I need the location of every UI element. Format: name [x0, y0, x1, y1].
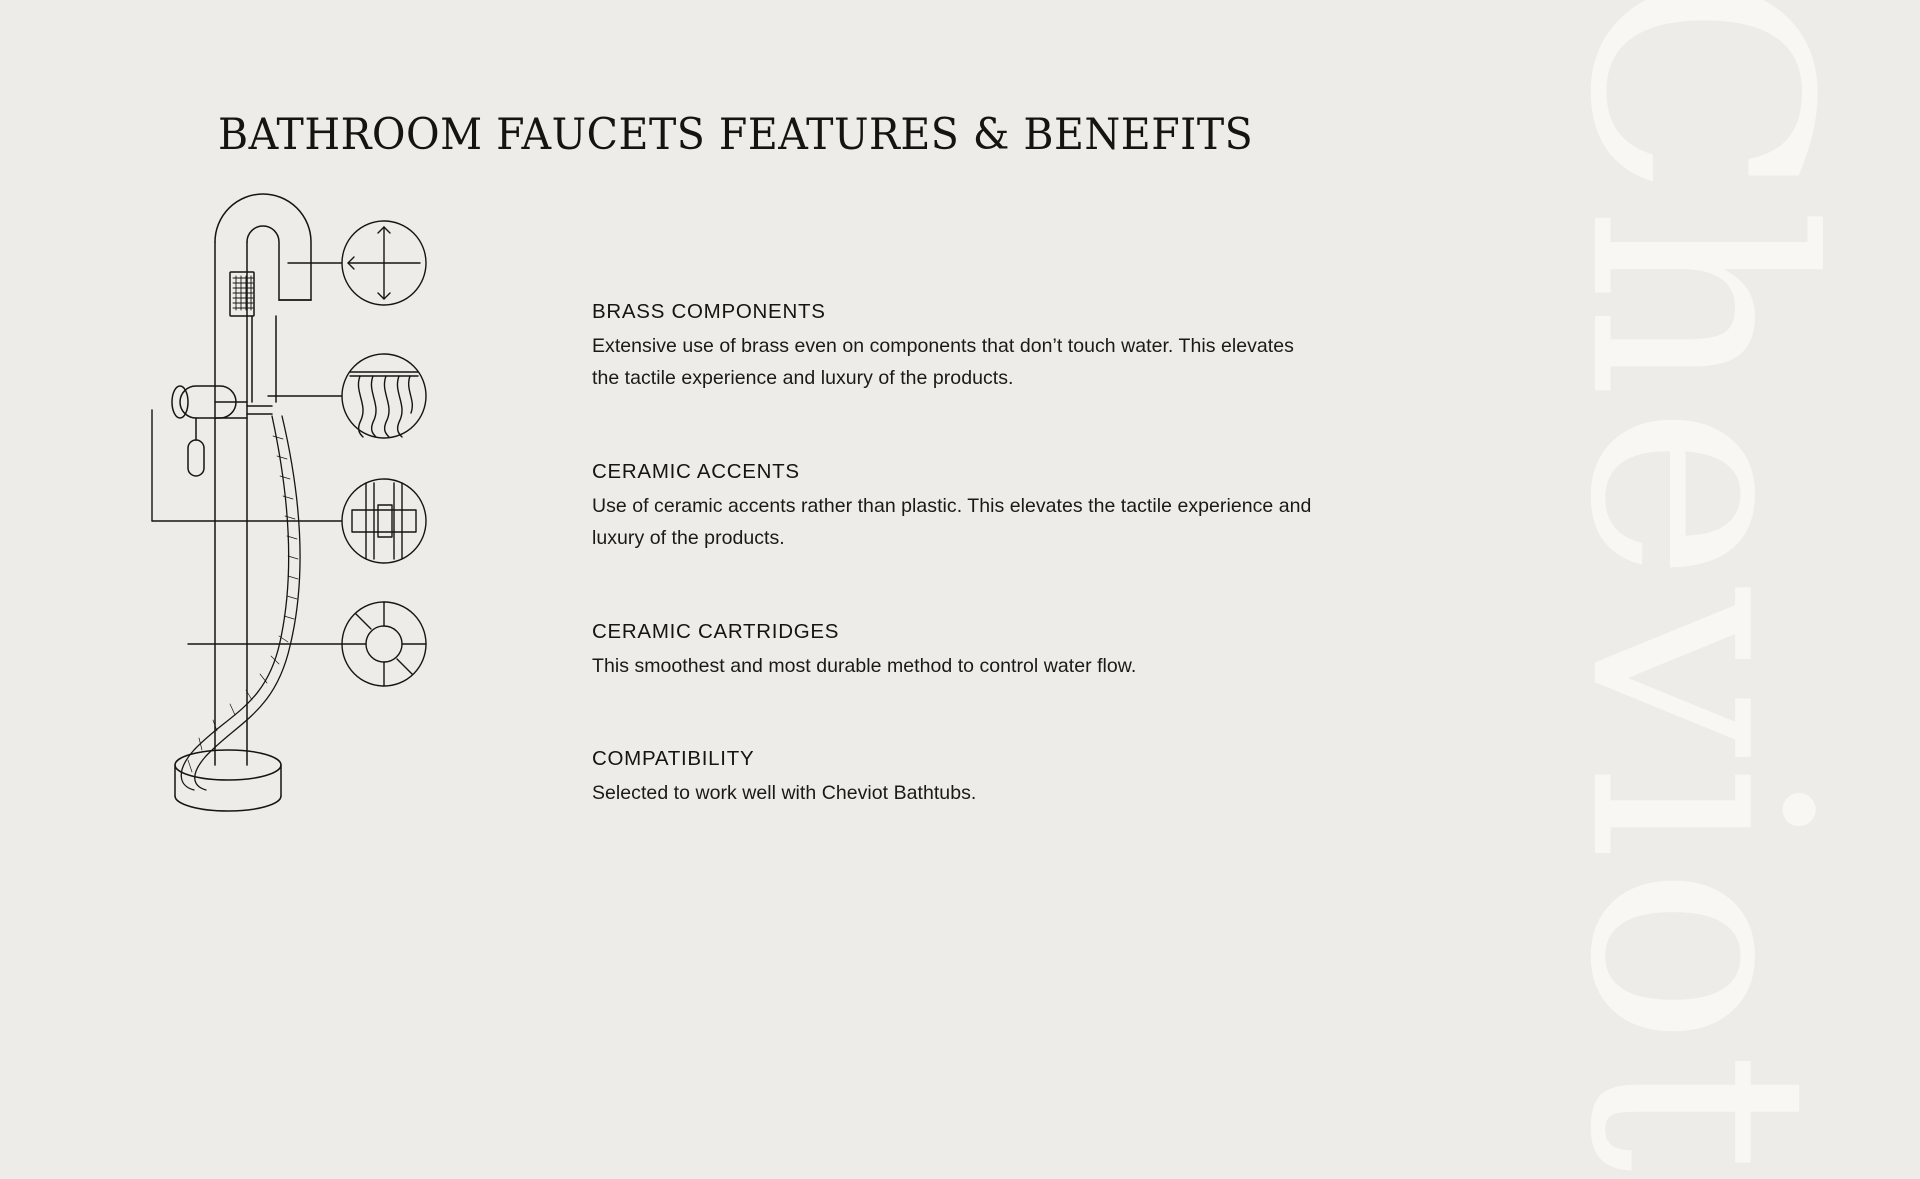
feature-item-ceramic-cartridges: CERAMIC CARTRIDGES This smoothest and mo…	[592, 620, 1332, 682]
brass-components-icon	[342, 221, 426, 305]
feature-item-brass-components: BRASS COMPONENTS Extensive use of brass …	[592, 300, 1332, 394]
handshower-wand	[230, 272, 276, 402]
hose-braid-texture	[188, 436, 298, 772]
feature-body: Extensive use of brass even on component…	[592, 330, 1312, 394]
feature-item-ceramic-accents: CERAMIC ACCENTS Use of ceramic accents r…	[592, 460, 1332, 554]
handshower-hose	[181, 416, 300, 790]
faucet-base	[175, 750, 281, 811]
feature-heading: CERAMIC CARTRIDGES	[592, 620, 1332, 644]
handshower-collar	[215, 402, 247, 418]
faucet-riser	[215, 242, 247, 765]
feature-body: Use of ceramic accents rather than plast…	[592, 490, 1312, 554]
ceramic-accents-icon	[342, 354, 426, 438]
feature-body: Selected to work well with Cheviot Batht…	[592, 777, 1312, 809]
feature-heading: CERAMIC ACCENTS	[592, 460, 1332, 484]
feature-body: This smoothest and most durable method t…	[592, 650, 1312, 682]
feature-heading: BRASS COMPONENTS	[592, 300, 1332, 324]
page-title: BATHROOM FAUCETS FEATURES & BENEFITS	[218, 113, 1253, 156]
slide-canvas: Cheviot BATHROOM FAUCETS FEATURES & BENE…	[0, 0, 1920, 1080]
brand-watermark-text: Cheviot	[1560, 0, 1836, 1179]
callout-icons	[330, 200, 510, 720]
feature-heading: COMPATIBILITY	[592, 747, 1332, 771]
hook-bracket	[247, 406, 272, 414]
compatibility-icon	[342, 602, 426, 686]
feature-item-compatibility: COMPATIBILITY Selected to work well with…	[592, 747, 1332, 809]
ceramic-cartridges-icon	[342, 479, 426, 563]
spray-head-texture	[233, 276, 253, 310]
brand-watermark: Cheviot	[1560, 0, 1920, 1110]
lever-handle	[188, 418, 204, 476]
